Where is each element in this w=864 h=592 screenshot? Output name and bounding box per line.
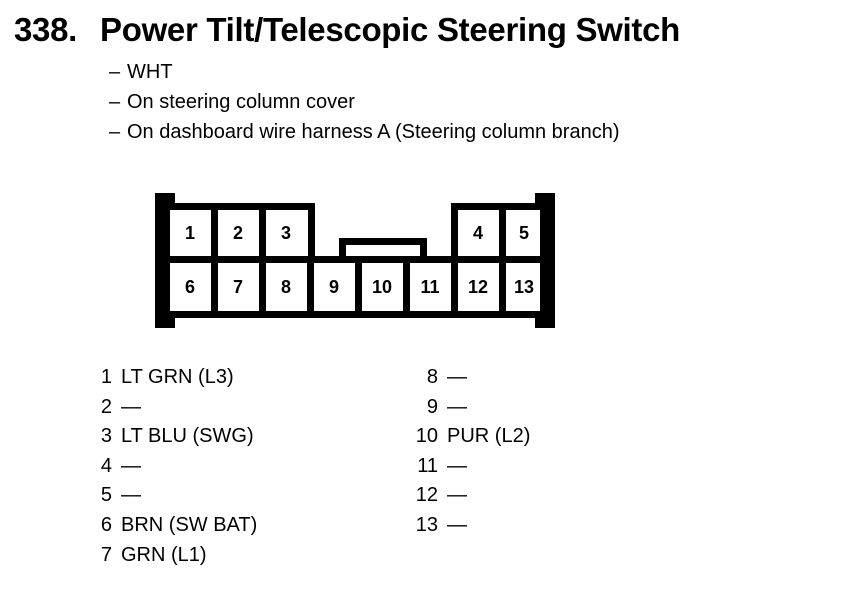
pin-table-left-column: 1 LT GRN (L3) 2 — 3 LT BLU (SWG) 4 — 5 —… <box>82 366 257 573</box>
pin-row: 5 — <box>82 484 257 514</box>
page-header: 338. Power Tilt/Telescopic Steering Swit… <box>14 10 850 147</box>
pin-value: — <box>447 514 530 537</box>
pin-number: 4 <box>82 455 121 478</box>
pin-row: 12 — <box>408 484 530 514</box>
pin-label-4: 4 <box>473 223 483 243</box>
pin-value: — <box>121 484 257 507</box>
pin-label-8: 8 <box>281 277 291 297</box>
pin-row: 13 — <box>408 514 530 544</box>
connector-body <box>155 193 555 328</box>
pin-value: — <box>447 484 530 507</box>
pin-value: GRN (L1) <box>121 544 257 567</box>
pin-value: — <box>447 366 530 389</box>
connector-svg: 1 2 3 4 5 6 7 8 9 10 11 12 13 <box>155 193 555 328</box>
dash-marker: – <box>109 87 127 117</box>
pin-label-3: 3 <box>281 223 291 243</box>
pin-row: 2 — <box>82 396 257 426</box>
pin-number: 12 <box>408 484 447 507</box>
pin-number: 6 <box>82 514 121 537</box>
pin-label-2: 2 <box>233 223 243 243</box>
pin-number: 3 <box>82 425 121 448</box>
pin-row: 11 — <box>408 455 530 485</box>
pin-table-right-column: 8 — 9 — 10 PUR (L2) 11 — 12 — 13 — <box>408 366 530 544</box>
pin-label-6: 6 <box>185 277 195 297</box>
pin-row: 3 LT BLU (SWG) <box>82 425 257 455</box>
note-item: – On steering column cover <box>109 87 850 117</box>
pin-row: 1 LT GRN (L3) <box>82 366 257 396</box>
pin-row: 7 GRN (L1) <box>82 544 257 574</box>
entry-number: 338. <box>14 10 100 50</box>
pin-label-11: 11 <box>420 277 439 297</box>
pin-value: LT BLU (SWG) <box>121 425 257 448</box>
pin-number: 1 <box>82 366 121 389</box>
page-title: 338. Power Tilt/Telescopic Steering Swit… <box>14 10 850 50</box>
pin-label-5: 5 <box>519 223 529 243</box>
pin-value: — <box>447 455 530 478</box>
entry-title: Power Tilt/Telescopic Steering Switch <box>100 10 680 50</box>
pin-value: PUR (L2) <box>447 425 530 448</box>
pin-row: 6 BRN (SW BAT) <box>82 514 257 544</box>
pin-row: 4 — <box>82 455 257 485</box>
pin-number: 13 <box>408 514 447 537</box>
pin-value: LT GRN (L3) <box>121 366 257 389</box>
note-text: WHT <box>127 57 173 87</box>
pin-value: — <box>121 455 257 478</box>
pin-value: — <box>447 396 530 419</box>
pin-value: BRN (SW BAT) <box>121 514 257 537</box>
pin-label-10: 10 <box>372 277 392 297</box>
pin-number: 9 <box>408 396 447 419</box>
pin-value: — <box>121 396 257 419</box>
pin-row: 8 — <box>408 366 530 396</box>
pin-label-13: 13 <box>514 277 534 297</box>
pin-number: 5 <box>82 484 121 507</box>
pin-number: 2 <box>82 396 121 419</box>
pin-number: 8 <box>408 366 447 389</box>
note-list: – WHT – On steering column cover – On da… <box>14 57 850 147</box>
pin-row: 9 — <box>408 396 530 426</box>
dash-marker: – <box>109 57 127 87</box>
dash-marker: – <box>109 117 127 147</box>
note-text: On steering column cover <box>127 87 355 117</box>
pin-number: 7 <box>82 544 121 567</box>
note-item: – WHT <box>109 57 850 87</box>
pin-label-9: 9 <box>329 277 339 297</box>
pin-number: 11 <box>408 455 447 478</box>
pin-label-1: 1 <box>185 223 195 243</box>
connector-diagram: 1 2 3 4 5 6 7 8 9 10 11 12 13 <box>155 193 555 328</box>
pin-number: 10 <box>408 425 447 448</box>
pin-label-7: 7 <box>233 277 243 297</box>
note-item: – On dashboard wire harness A (Steering … <box>109 117 850 147</box>
note-text: On dashboard wire harness A (Steering co… <box>127 117 620 147</box>
pin-label-12: 12 <box>468 277 488 297</box>
pin-row: 10 PUR (L2) <box>408 425 530 455</box>
